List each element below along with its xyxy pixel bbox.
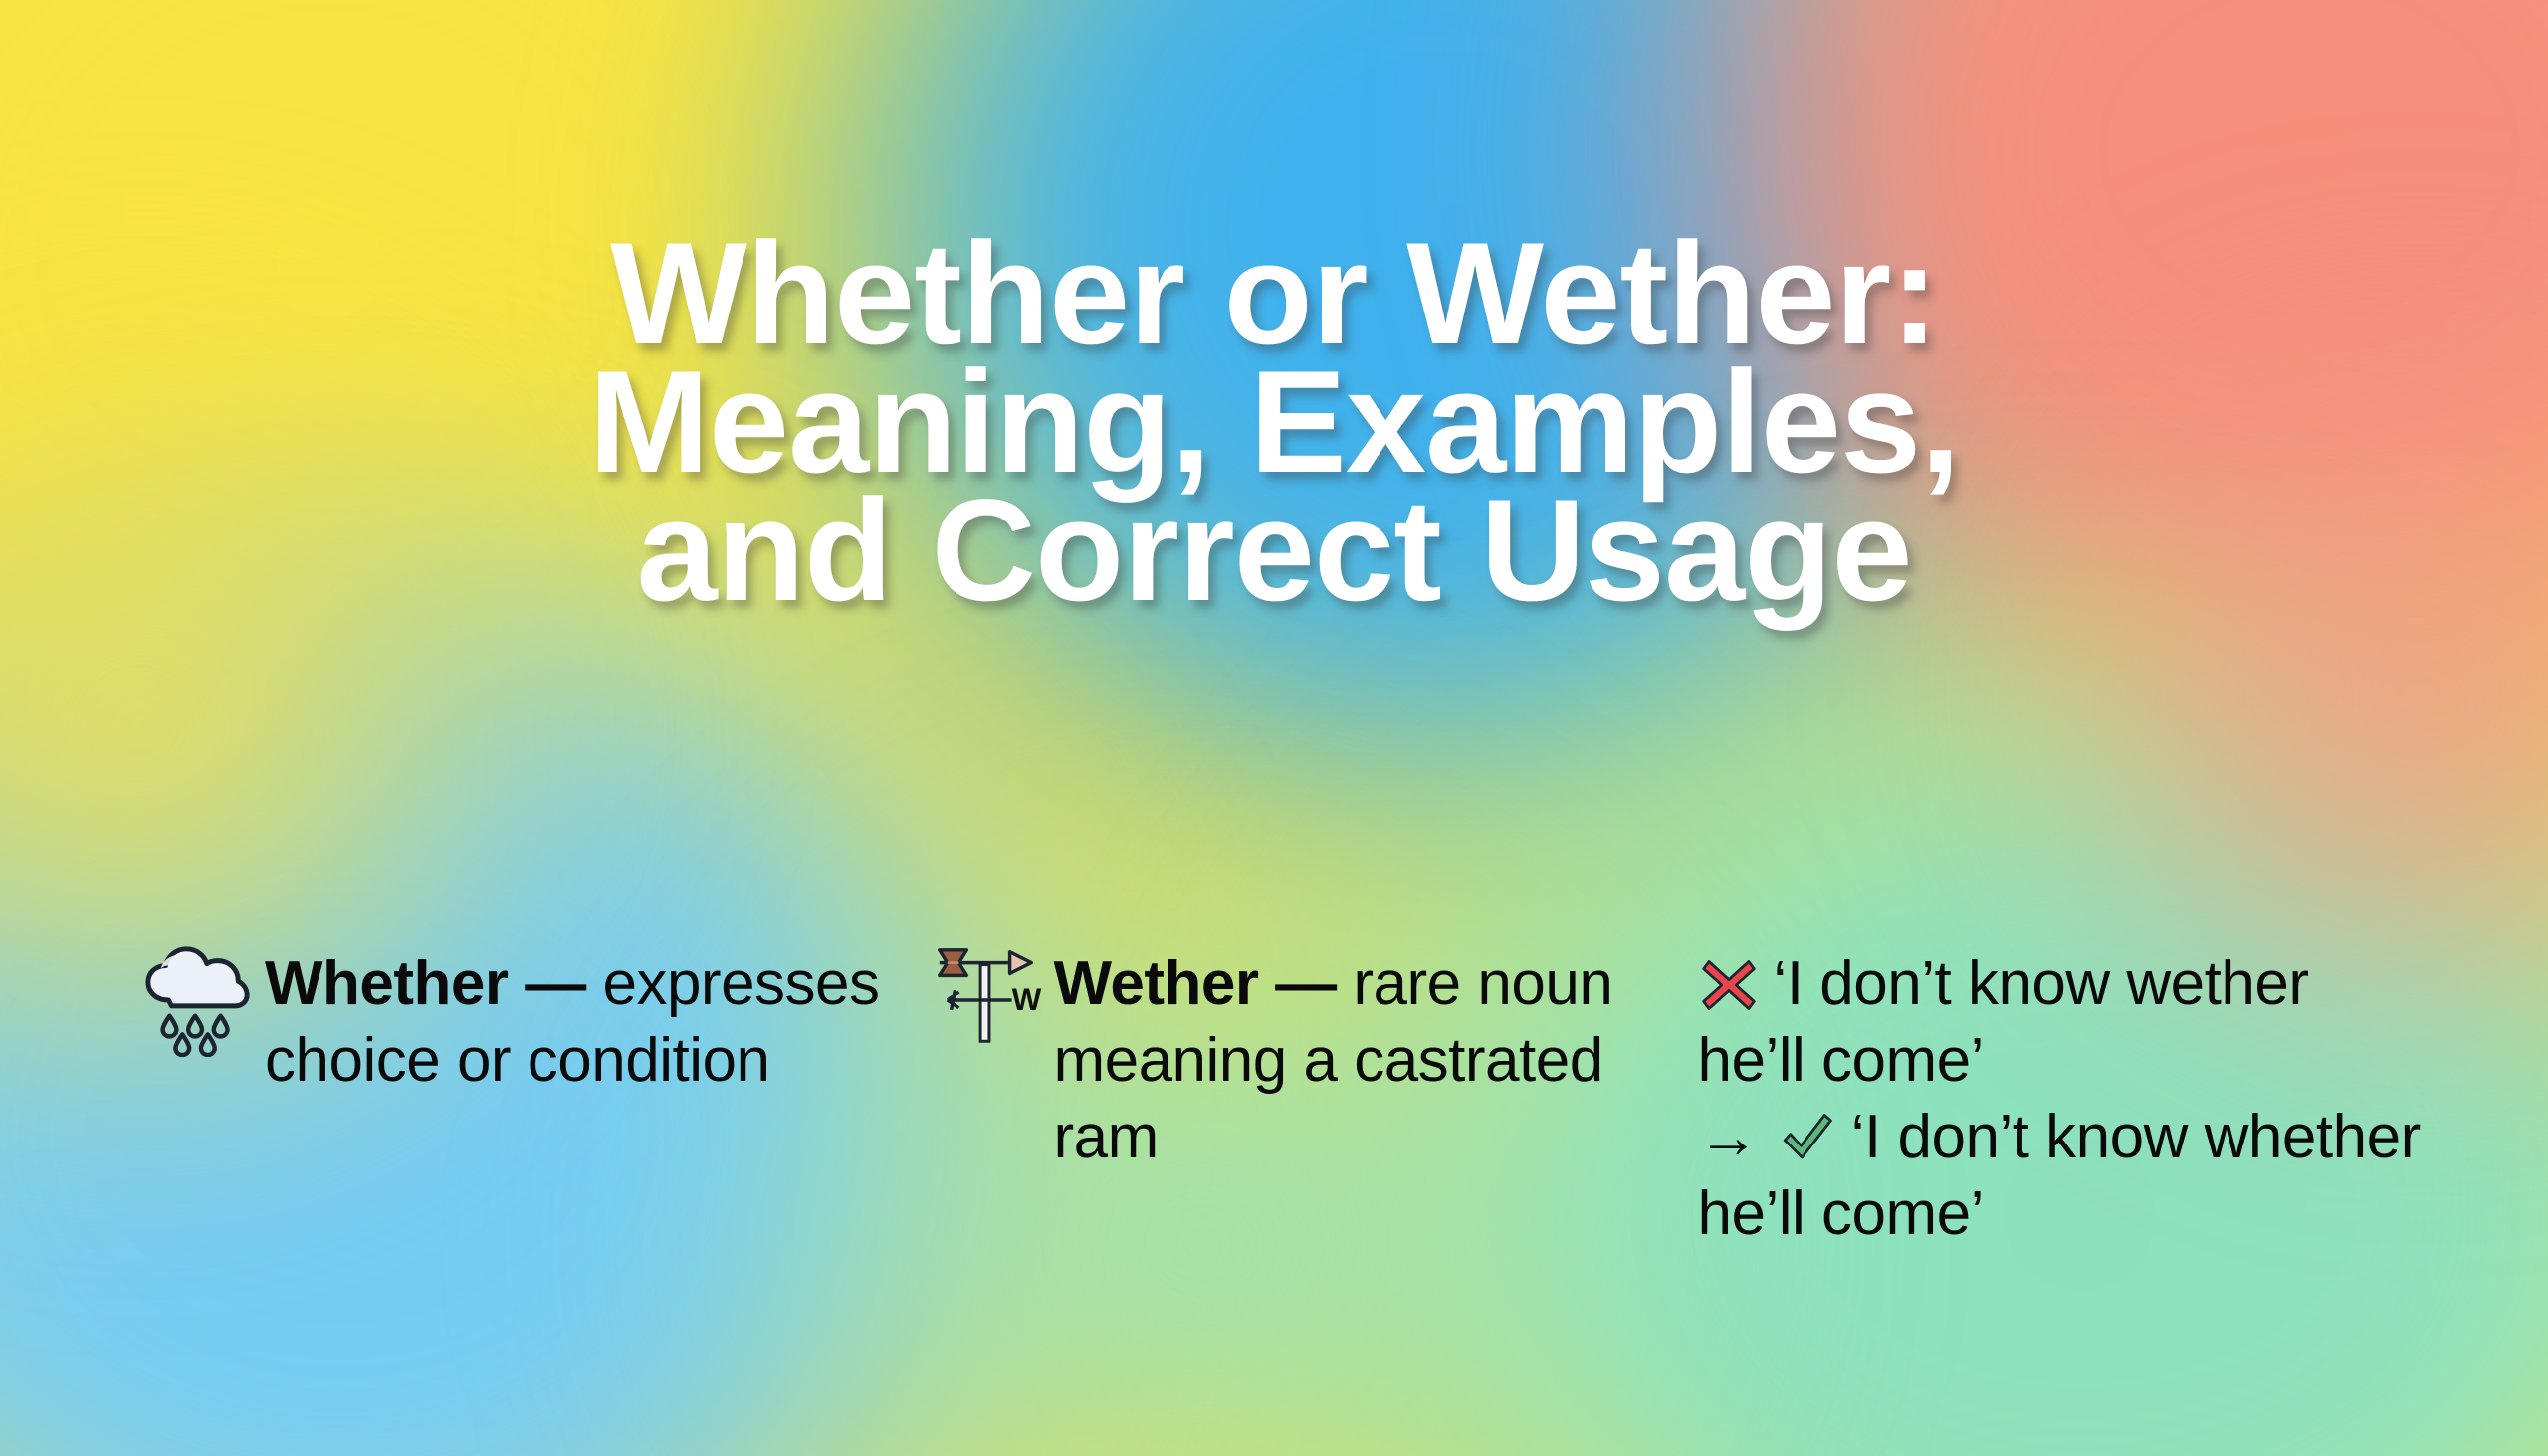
title-line-2: Meaning, Examples,: [90, 357, 2458, 486]
title-line-3: and Correct Usage: [90, 486, 2458, 614]
weather-vane-icon: W: [928, 939, 1045, 1057]
cross-mark-icon: [1698, 955, 1766, 1017]
page-title: Whether or Wether: Meaning, Examples, an…: [0, 229, 2548, 614]
card-whether-text: Whether — expresses choice or condition: [265, 945, 928, 1099]
card-example: ‘I don’t know wether he’ll come’ → ‘I do…: [1698, 945, 2429, 1252]
card-wether: W Wether — rare noun meaning a castrated…: [928, 945, 1697, 1252]
check-mark-icon: [1776, 1109, 1843, 1170]
card-whether: Whether — expresses choice or condition: [139, 945, 928, 1252]
title-line-1: Whether or Wether:: [90, 229, 2458, 357]
card-wether-text: Wether — rare noun meaning a castrated r…: [1053, 945, 1697, 1175]
card-wether-lead: Wether —: [1053, 949, 1336, 1018]
arrow-right-icon: →: [1698, 1103, 1760, 1171]
card-example-text: ‘I don’t know wether he’ll come’ → ‘I do…: [1698, 945, 2429, 1252]
content-root: Whether or Wether: Meaning, Examples, an…: [0, 0, 2548, 1456]
card-whether-lead: Whether —: [265, 949, 586, 1018]
card-example-incorrect: ‘I don’t know wether he’ll come’: [1698, 949, 2309, 1095]
rain-cloud-icon: [139, 939, 257, 1057]
definition-cards: Whether — expresses choice or condition: [0, 945, 2548, 1252]
svg-text:W: W: [1012, 982, 1042, 1017]
